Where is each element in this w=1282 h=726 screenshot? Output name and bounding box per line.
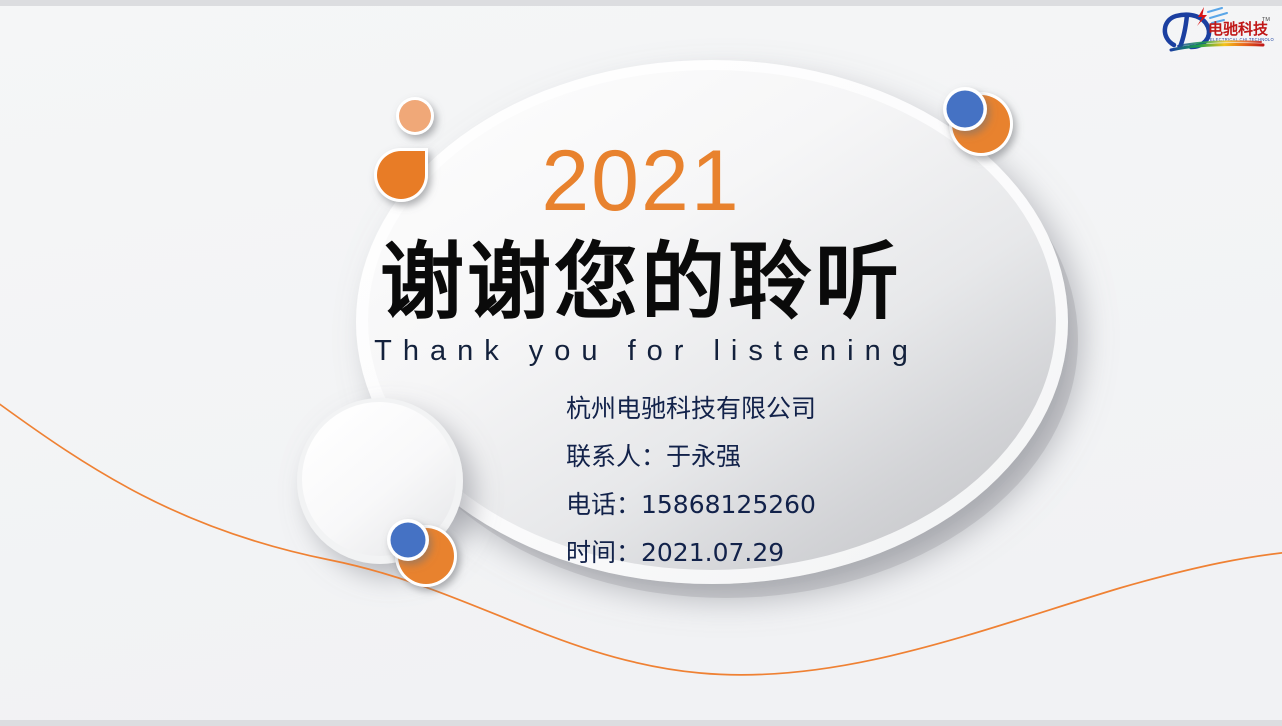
peach-dot-top-left (396, 97, 434, 135)
slide-canvas: 2021 谢谢您的聆听 Thank you for listening 杭州电驰… (0, 0, 1282, 726)
logo-chinese-text: 电驰科技 (1208, 20, 1269, 38)
blue-dot-bottom-left (387, 519, 429, 561)
blue-dot-top-right (943, 87, 987, 131)
slide-bottom-edge (0, 720, 1282, 726)
company-logo: 电驰科技 TM ELECTRICAL CHI TECHNOLOGY (1156, 5, 1274, 53)
logo-trademark: TM (1262, 17, 1270, 23)
decorative-dots-layer (0, 0, 1282, 726)
slide-top-edge (0, 0, 1282, 6)
orange-leaf-top-left (374, 148, 428, 202)
logo-d-stem (1180, 15, 1187, 47)
